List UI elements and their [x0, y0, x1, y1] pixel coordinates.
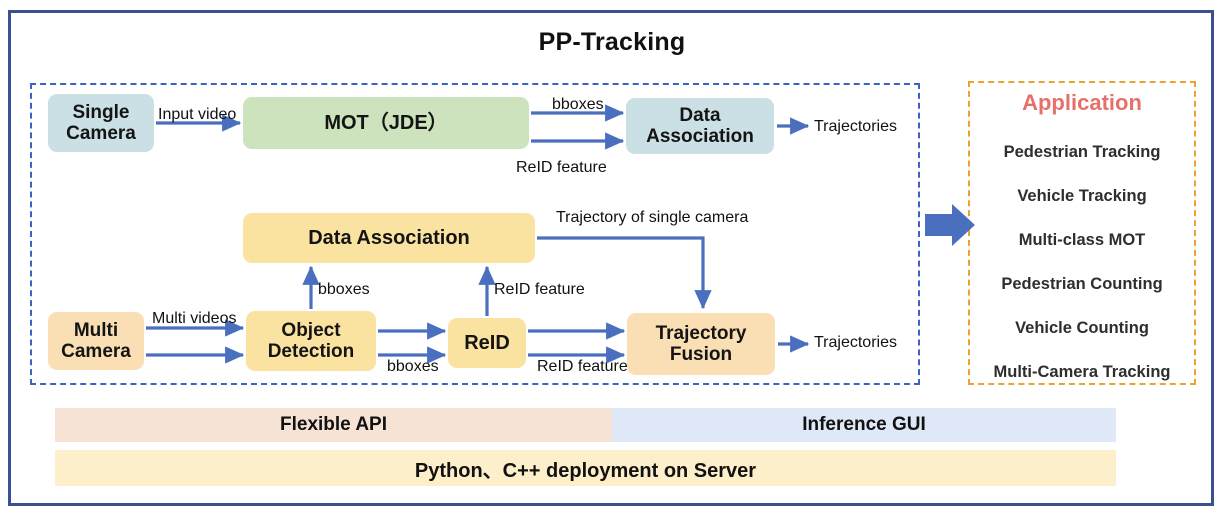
node-data-association-multi[interactable]: Data Association — [243, 213, 535, 263]
application-heading: Application — [968, 90, 1196, 116]
node-mot-jde-label: MOT（JDE） — [324, 112, 447, 134]
label-reid-feature-top: ReID feature — [516, 159, 607, 177]
label-trajectories-single-camera: Trajectories — [814, 118, 897, 136]
label-trajectories-multi-camera: Trajectories — [814, 334, 897, 352]
node-mot-jde[interactable]: MOT（JDE） — [243, 97, 529, 149]
node-trajectory-fusion[interactable]: Trajectory Fusion — [627, 313, 775, 375]
label-reid-feature-bottom: ReID feature — [537, 358, 628, 376]
application-item-pedestrian-tracking: Pedestrian Tracking — [968, 143, 1196, 162]
node-trajectory-fusion-label: Trajectory Fusion — [656, 323, 747, 366]
label-bboxes-top: bboxes — [552, 96, 604, 114]
node-single-camera[interactable]: Single Camera — [48, 94, 154, 152]
bar-flexible-api[interactable]: Flexible API — [55, 408, 612, 442]
label-trajectory-of-single-camera: Trajectory of single camera — [556, 209, 748, 227]
node-data-association-single-label: Data Association — [646, 105, 754, 148]
node-multi-camera-label: Multi Camera — [61, 320, 131, 363]
application-item-vehicle-counting: Vehicle Counting — [968, 319, 1196, 338]
node-object-detection[interactable]: Object Detection — [246, 311, 376, 371]
application-item-multi-class-mot: Multi-class MOT — [968, 231, 1196, 250]
node-reid[interactable]: ReID — [448, 318, 526, 368]
application-item-vehicle-tracking: Vehicle Tracking — [968, 187, 1196, 206]
label-reid-feature-mid: ReID feature — [494, 281, 585, 299]
diagram-canvas: PP-Tracking — [0, 0, 1224, 514]
node-object-detection-label: Object Detection — [268, 320, 355, 363]
node-reid-label: ReID — [464, 332, 510, 354]
bar-inference-gui[interactable]: Inference GUI — [612, 408, 1116, 442]
label-multi-videos: Multi videos — [152, 310, 236, 328]
label-input-video: Input video — [158, 106, 236, 124]
node-data-association-single[interactable]: Data Association — [626, 98, 774, 154]
application-item-pedestrian-counting: Pedestrian Counting — [968, 275, 1196, 294]
label-bboxes-bottom: bboxes — [387, 358, 439, 376]
page-title: PP-Tracking — [420, 28, 804, 57]
label-bboxes-mid: bboxes — [318, 281, 370, 299]
node-data-association-multi-label: Data Association — [308, 227, 470, 249]
node-single-camera-label: Single Camera — [66, 102, 136, 145]
application-item-multi-camera-tracking: Multi-Camera Tracking — [968, 363, 1196, 382]
node-multi-camera[interactable]: Multi Camera — [48, 312, 144, 370]
bar-deployment-python-cpp[interactable]: Python、C++ deployment on Server — [55, 450, 1116, 486]
